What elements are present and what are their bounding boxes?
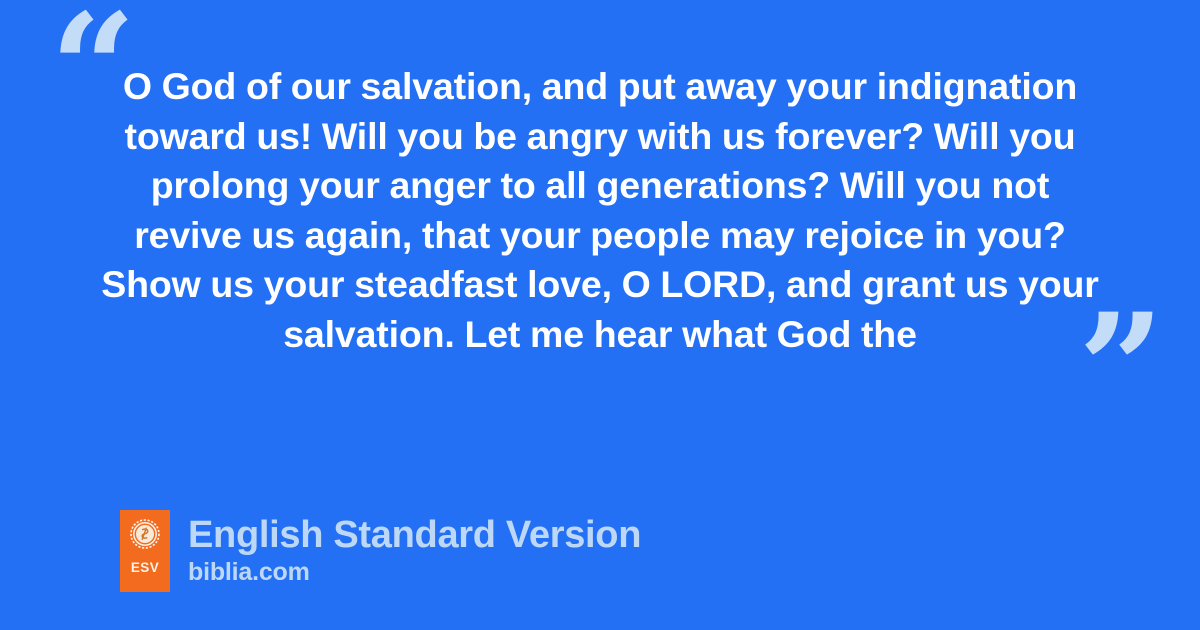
esv-logo-abbreviation: ESV xyxy=(131,561,159,575)
verse-text: O God of our salvation, and put away you… xyxy=(100,62,1100,359)
bible-version-name: English Standard Version xyxy=(188,514,641,556)
site-url-label[interactable]: biblia.com xyxy=(188,558,641,586)
close-quote-icon: ” xyxy=(1078,294,1166,444)
attribution-footer: ESV English Standard Version biblia.com xyxy=(120,510,641,592)
bible-verse-card: “ O God of our salvation, and put away y… xyxy=(0,0,1200,630)
attribution-text-group: English Standard Version biblia.com xyxy=(188,510,641,586)
quote-block: O God of our salvation, and put away you… xyxy=(100,62,1100,359)
esv-seal-icon xyxy=(130,519,160,549)
esv-logo[interactable]: ESV xyxy=(120,510,170,592)
